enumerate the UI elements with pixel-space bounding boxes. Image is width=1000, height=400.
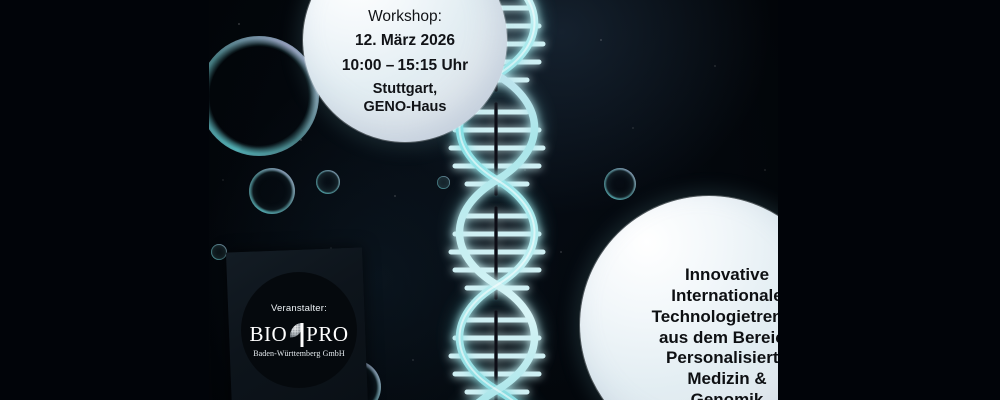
workshop-city: Stuttgart, <box>342 82 468 97</box>
event-topic-bubble: Innovative Internationale Technologietre… <box>580 196 778 400</box>
soap-bubble-upper-right <box>604 168 636 200</box>
topic-line: Technologietrends <box>627 307 778 328</box>
organiser-label: Veranstalter: <box>271 303 327 314</box>
soap-bubble-medium <box>249 168 295 214</box>
poster-artwork: Veranstalter: BIO <box>209 0 778 400</box>
topic-line: aus dem Bereich <box>627 328 778 349</box>
workshop-time: 10:00 – 15:15 Uhr <box>342 58 468 74</box>
poster-image: Veranstalter: BIO <box>0 0 1000 400</box>
biopro-word-pro: PRO <box>306 324 348 345</box>
topic-line: Personalisierte <box>627 348 778 369</box>
topic-line: Medizin & <box>627 369 778 390</box>
workshop-date: 12. März 2026 <box>342 33 468 49</box>
soap-bubble-large <box>209 36 319 156</box>
biopro-logo: BIO <box>249 322 348 358</box>
topic-line: Innovative <box>627 265 778 286</box>
workshop-venue: GENO-Haus <box>342 100 468 115</box>
organiser-logo-bubble: Veranstalter: BIO <box>241 272 357 388</box>
biopro-leaf-icon <box>288 322 305 348</box>
soap-bubble-tiny-left <box>211 244 227 260</box>
topic-line: Internationale <box>627 286 778 307</box>
letterbox-bar-right <box>778 0 1000 400</box>
soap-bubble-small <box>316 170 340 194</box>
event-topic-text: Innovative Internationale Technologietre… <box>627 265 778 400</box>
topic-line: Genomik <box>627 390 778 400</box>
biopro-subtitle: Baden-Württemberg GmbH <box>249 349 348 358</box>
biopro-word-bio: BIO <box>249 324 287 345</box>
workshop-info-text: Workshop: 12. März 2026 10:00 – 15:15 Uh… <box>342 0 468 117</box>
letterbox-bar-left <box>0 0 209 400</box>
workshop-label: Workshop: <box>342 9 468 25</box>
